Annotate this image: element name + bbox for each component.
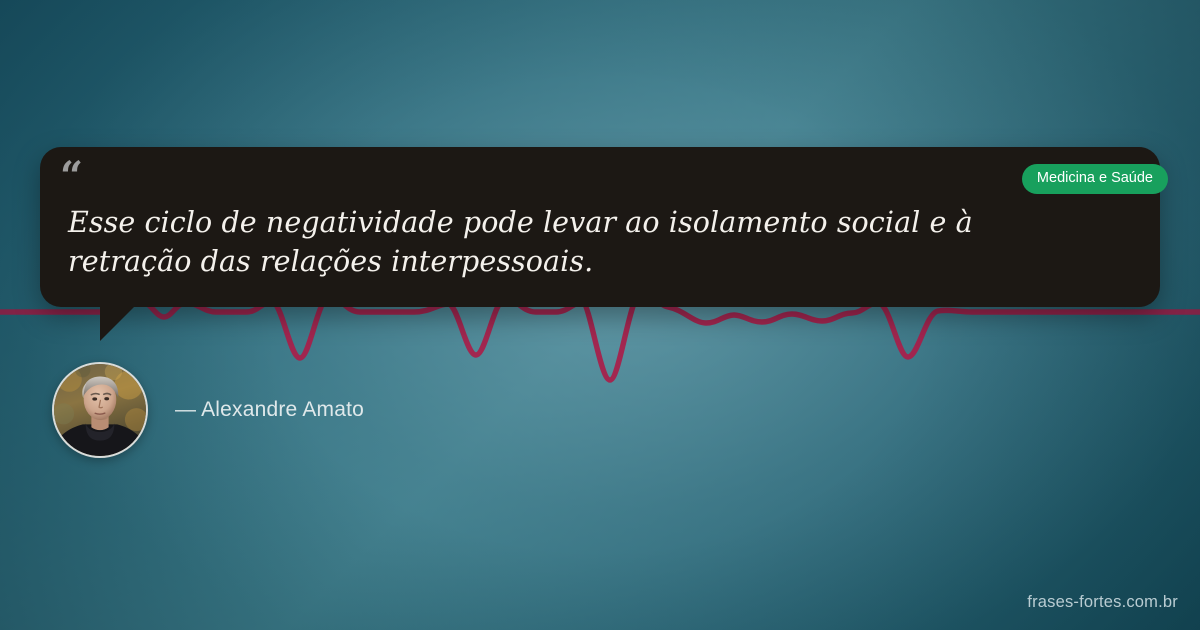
avatar-photo [54, 364, 146, 456]
avatar [52, 362, 148, 458]
quote-text: Esse ciclo de negatividade pode levar ao… [68, 203, 1078, 282]
site-footer: frases-fortes.com.br [1027, 593, 1178, 612]
quote-card-tail [100, 305, 136, 341]
quote-open-icon: “ [60, 157, 82, 197]
category-badge[interactable]: Medicina e Saúde [1022, 164, 1168, 194]
quote-graphic: “ Esse ciclo de negatividade pode levar … [0, 0, 1200, 630]
author-name: — Alexandre Amato [175, 398, 364, 422]
vignette-overlay [0, 0, 1200, 630]
author-row: — Alexandre Amato [52, 362, 364, 458]
